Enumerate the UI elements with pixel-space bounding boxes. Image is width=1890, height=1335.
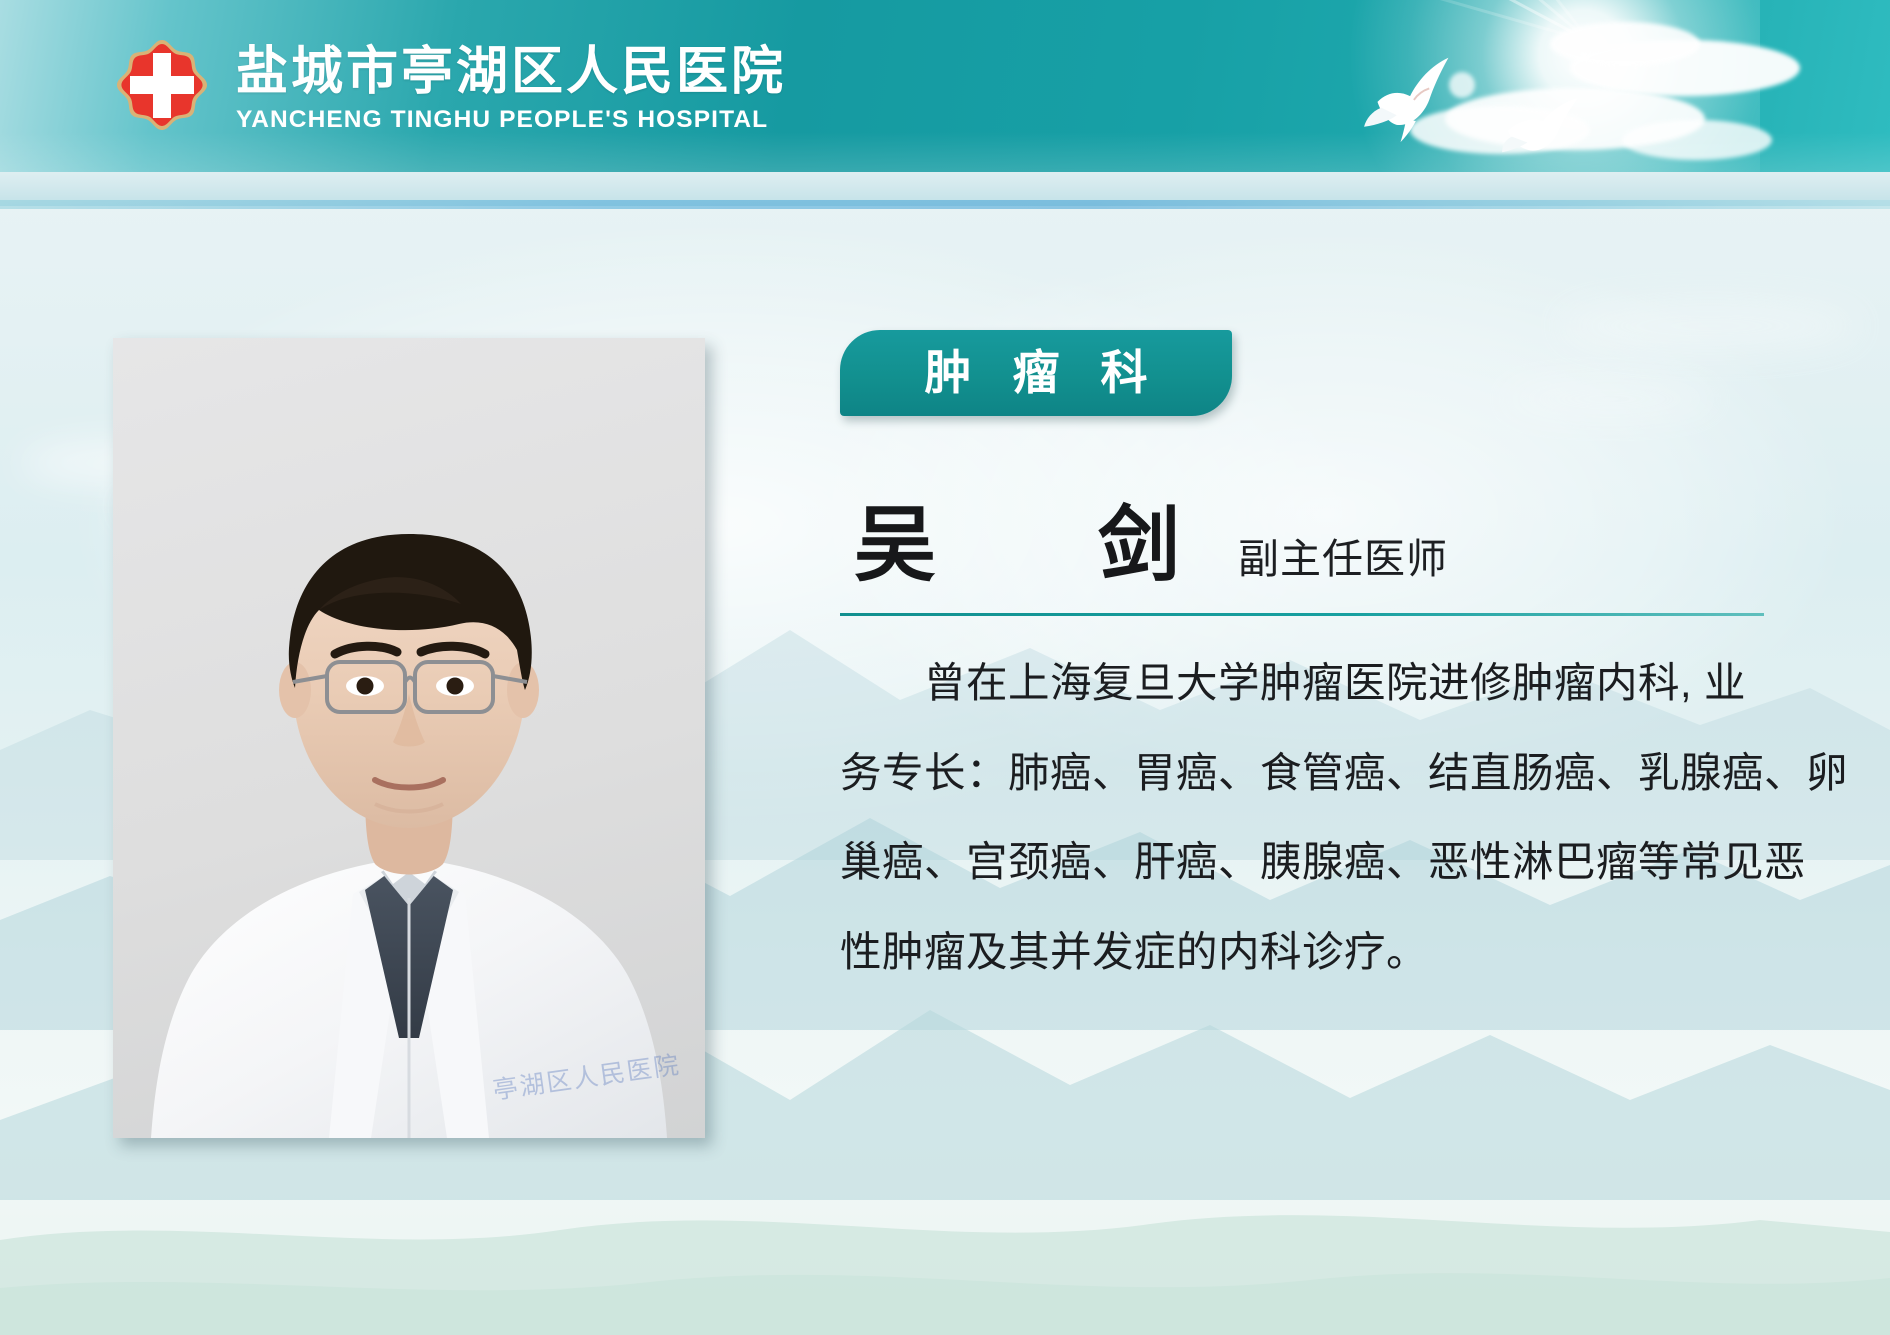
hospital-cross-logo-icon <box>110 36 214 140</box>
bio-line: 性肿瘤及其并发症的内科诊疗。 <box>840 931 1770 973</box>
page-header: 盐城市亭湖区人民医院 YANCHENG TINGHU PEOPLE'S HOSP… <box>0 0 1890 172</box>
doctor-name-row: 吴 剑 副主任医师 <box>840 478 1780 597</box>
name-divider <box>840 613 1764 616</box>
hospital-name-cn: 盐城市亭湖区人民医院 <box>236 43 786 101</box>
bio-line: 巢癌、宫颈癌、肝癌、胰腺癌、恶性淋巴瘤等常见恶 <box>840 841 1770 883</box>
doctor-photo: 亭湖区人民医院 <box>113 338 705 1138</box>
bio-line: 曾在上海复旦大学肿瘤医院进修肿瘤内科, 业 <box>840 662 1770 704</box>
foreground-field <box>0 1120 1890 1335</box>
portrait-illustration <box>113 338 705 1138</box>
brand-text: 盐城市亭湖区人民医院 YANCHENG TINGHU PEOPLE'S HOSP… <box>236 41 786 136</box>
cloud-icon <box>1550 22 1700 66</box>
doctor-bio: 曾在上海复旦大学肿瘤医院进修肿瘤内科, 业 务专长：肺癌、胃癌、食管癌、结直肠癌… <box>840 662 1770 972</box>
sun-ray-icon <box>1272 0 1590 43</box>
brand-block: 盐城市亭湖区人民医院 YANCHENG TINGHU PEOPLE'S HOSP… <box>110 36 786 140</box>
department-badge: 肿 瘤 科 <box>840 330 1232 416</box>
doctor-name: 吴 剑 <box>854 478 1220 597</box>
profile-content: 肿 瘤 科 吴 剑 副主任医师 曾在上海复旦大学肿瘤医院进修肿瘤内科, 业 务专… <box>840 330 1780 1020</box>
bio-line: 务专长：肺癌、胃癌、食管癌、结直肠癌、乳腺癌、卵 <box>840 752 1770 794</box>
header-accent-stripe <box>0 200 1890 209</box>
doctor-profile-poster: 盐城市亭湖区人民医院 YANCHENG TINGHU PEOPLE'S HOSP… <box>0 0 1890 1335</box>
doctor-title: 副主任医师 <box>1238 525 1448 585</box>
hospital-name-en: YANCHENG TINGHU PEOPLE'S HOSPITAL <box>236 105 786 136</box>
dove-icon <box>1364 52 1460 144</box>
